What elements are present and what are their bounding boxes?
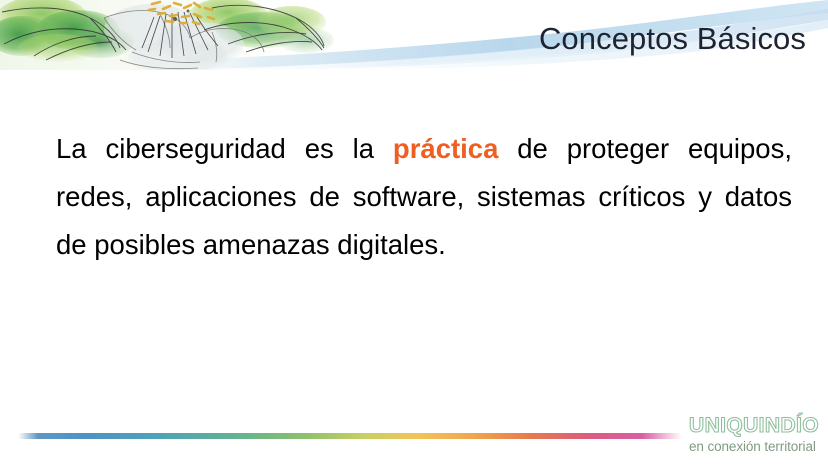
rainbow-gradient-rule <box>18 433 682 439</box>
slide-canvas: Conceptos Básicos La ciberseguridad es l… <box>0 0 828 466</box>
body-paragraph: La ciberseguridad es la práctica de prot… <box>56 125 792 269</box>
page-title: Conceptos Básicos <box>430 21 806 57</box>
uniquindio-wordmark-text: UNIQUINDÍO <box>689 414 819 437</box>
slide-body: La ciberseguridad es la práctica de prot… <box>56 125 792 269</box>
uniquindio-wordmark-icon: UNIQUINDÍO <box>688 412 820 438</box>
uniquindio-logo: UNIQUINDÍO en conexión territorial <box>688 412 820 460</box>
slide-header: Conceptos Básicos <box>0 0 828 70</box>
body-text-before: La ciberseguridad es la <box>56 133 393 164</box>
highlighted-term: práctica <box>393 133 498 164</box>
uniquindio-tagline: en conexión territorial <box>689 439 820 455</box>
